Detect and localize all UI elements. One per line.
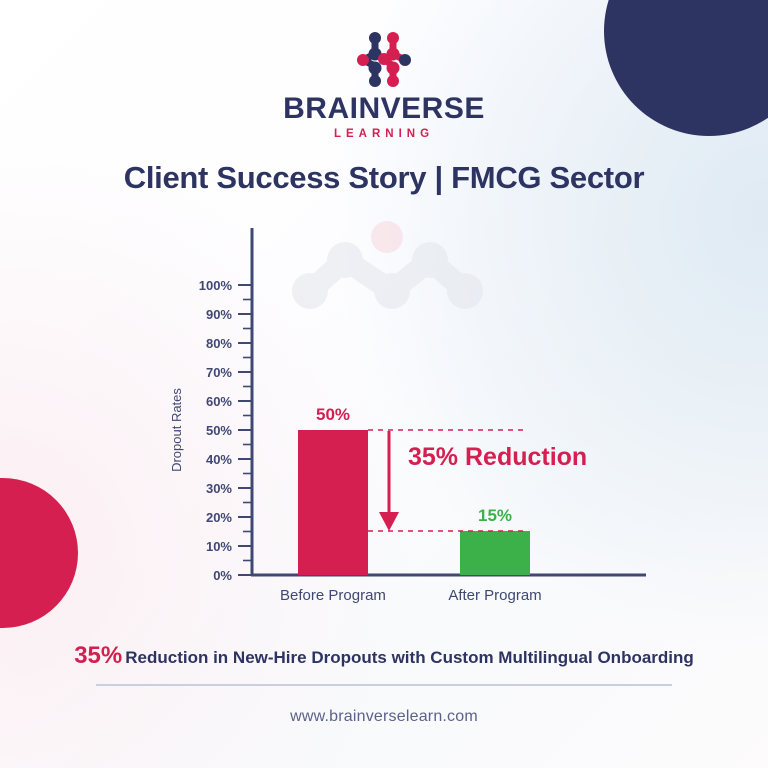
y-tick-label: 70% bbox=[206, 365, 232, 380]
bar-value-label-after: 15% bbox=[478, 506, 512, 525]
y-tick-label: 10% bbox=[206, 539, 232, 554]
bar-after-program[interactable] bbox=[460, 531, 530, 575]
infographic-poster: BRAINVERSE LEARNING Client Success Story… bbox=[0, 0, 768, 768]
y-tick-label: 40% bbox=[206, 452, 232, 467]
site-url[interactable]: www.brainverselearn.com bbox=[0, 708, 768, 726]
reduction-arrow-icon bbox=[379, 431, 399, 531]
bar-before-program[interactable] bbox=[298, 430, 368, 575]
y-tick-label: 50% bbox=[206, 423, 232, 438]
y-tick-label: 80% bbox=[206, 336, 232, 351]
y-tick-label: 60% bbox=[206, 394, 232, 409]
reduction-annotation-label: 35% Reduction bbox=[408, 443, 587, 471]
brand-wordmark-text: BRAINVERSE bbox=[283, 92, 485, 125]
y-tick-label: 30% bbox=[206, 481, 232, 496]
y-tick-label: 20% bbox=[206, 510, 232, 525]
footer-divider bbox=[96, 684, 672, 686]
brand-tagline: LEARNING bbox=[0, 129, 768, 141]
x-category-label-before: Before Program bbox=[280, 587, 386, 604]
brand-logo: BRAINVERSE LEARNING bbox=[0, 28, 768, 141]
brand-wordmark: BRAINVERSE bbox=[0, 94, 768, 124]
molecule-network-icon bbox=[349, 28, 419, 90]
y-axis-title: Dropout Rates bbox=[169, 388, 184, 472]
y-tick-label: 90% bbox=[206, 307, 232, 322]
bar-chart: 0% 10% 20% 30% 40% 50% 60% 70% 80% 90% 1… bbox=[0, 215, 768, 615]
y-tick-label: 100% bbox=[199, 278, 233, 293]
page-title: Client Success Story | FMCG Sector bbox=[0, 160, 768, 196]
footer-stat: 35% bbox=[74, 642, 122, 669]
footer-caption: 35%Reduction in New-Hire Dropouts with C… bbox=[0, 642, 768, 670]
bar-value-label-before: 50% bbox=[316, 405, 350, 424]
x-category-label-after: After Program bbox=[448, 587, 541, 604]
footer-caption-text: Reduction in New-Hire Dropouts with Cust… bbox=[125, 648, 694, 667]
y-tick-label: 0% bbox=[213, 568, 232, 583]
molecule-chain-watermark-icon bbox=[292, 221, 483, 309]
